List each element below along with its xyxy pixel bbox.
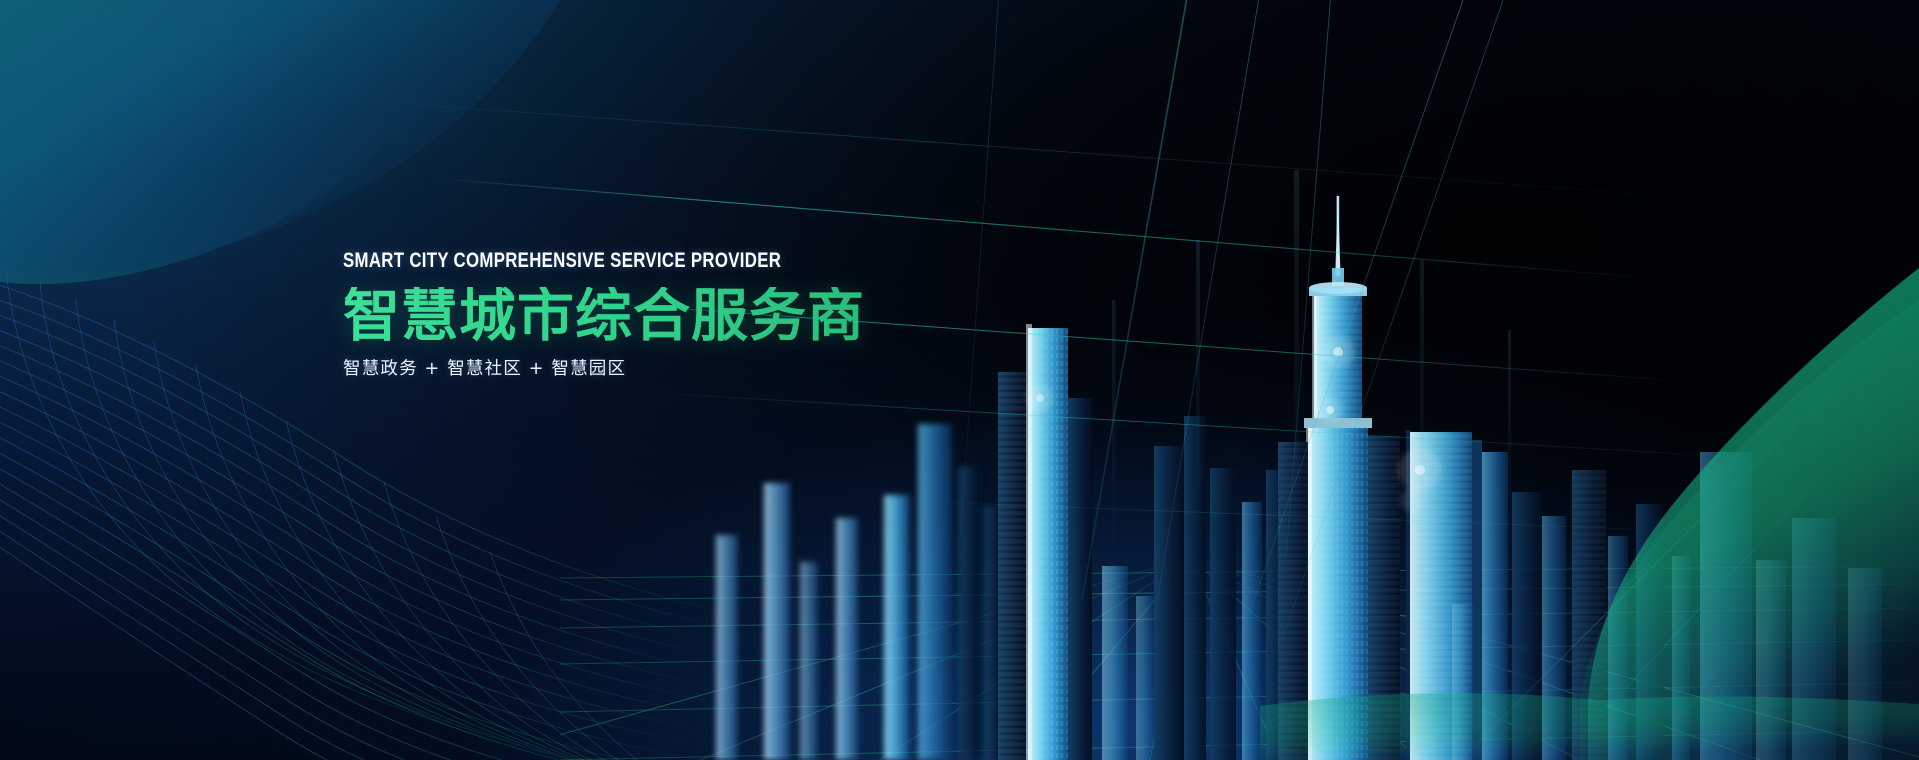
smart-city-hero-banner: SMART CITY COMPREHENSIVE SERVICE PROVIDE… xyxy=(0,0,1919,760)
eyebrow-text: SMART CITY COMPREHENSIVE SERVICE PROVIDE… xyxy=(343,250,919,271)
subtitle-text: 智慧政务 + 智慧社区 + 智慧园区 xyxy=(343,361,1063,379)
page-title: 智慧城市综合服务商 xyxy=(343,287,1063,347)
hero-text-block: SMART CITY COMPREHENSIVE SERVICE PROVIDE… xyxy=(343,250,1063,378)
vignette-overlay xyxy=(0,0,1919,760)
